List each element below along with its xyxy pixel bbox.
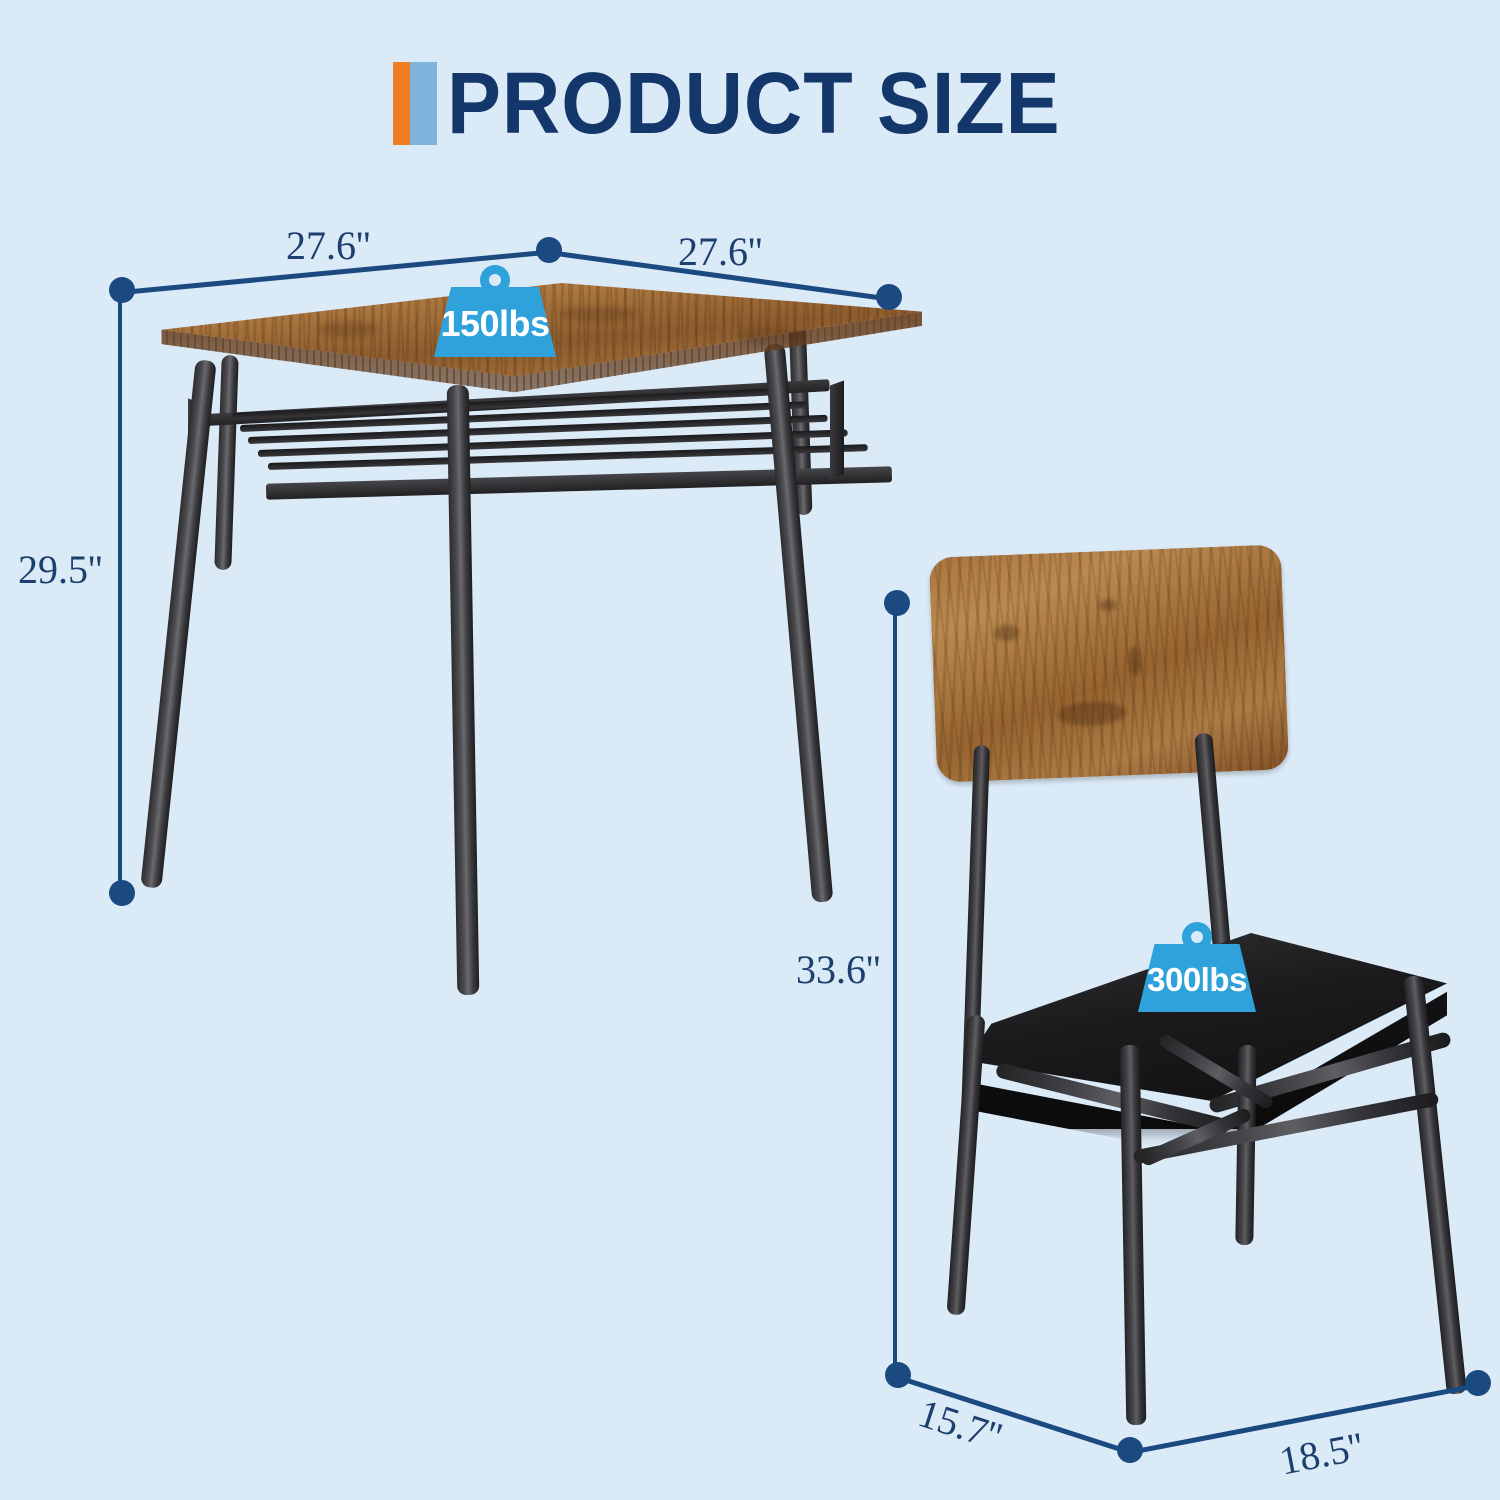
wood-knot-mark <box>1128 646 1141 676</box>
weight-badge-body: 300lbs <box>1138 944 1256 1012</box>
chair-weight-label: 300lbs <box>1147 961 1247 999</box>
infographic-canvas: PRODUCT SIZE <box>0 0 1500 1500</box>
weight-badge-body: 150lbs <box>434 287 556 357</box>
table-dimension-endpoint <box>109 277 135 303</box>
table-dimension-endpoint <box>536 237 562 263</box>
chair-dimension-endpoint <box>1117 1437 1143 1463</box>
chair-dimension-endpoint <box>1465 1370 1491 1396</box>
title-accent-blue-bar <box>410 62 437 145</box>
page-title-text: PRODUCT SIZE <box>447 62 1061 145</box>
chair-leg-back-right <box>1235 1045 1256 1245</box>
chair-weight-capacity-badge: 300lbs <box>1138 922 1256 1012</box>
wood-grain-mark <box>738 327 808 345</box>
chair-dimension-endpoint <box>885 1362 911 1388</box>
table-height-dimension-line <box>118 292 122 895</box>
table-dimension-endpoint <box>109 880 135 906</box>
table-depth-label: 27.6'' <box>286 222 370 269</box>
wood-knot-mark <box>993 624 1020 641</box>
wood-grain-mark <box>318 321 378 337</box>
title-accent-orange-bar <box>393 62 410 145</box>
table-weight-label: 150lbs <box>440 303 549 345</box>
table-width-label: 27.6'' <box>678 228 762 275</box>
chair-height-label: 33.6'' <box>796 946 880 993</box>
chair-width-label: 18.5'' <box>1276 1422 1368 1484</box>
page-title: PRODUCT SIZE <box>0 62 1500 145</box>
chair-dimension-endpoint <box>884 590 910 616</box>
wood-knot-mark <box>1099 599 1117 612</box>
table-dimension-endpoint <box>876 284 902 310</box>
chair-leg-back-left <box>947 1015 986 1316</box>
table-height-label: 29.5'' <box>18 546 102 593</box>
table-weight-capacity-badge: 150lbs <box>434 265 556 357</box>
table-leg-front-left <box>140 359 216 888</box>
dining-table-illustration <box>120 255 940 1015</box>
chair-height-dimension-line <box>893 605 897 1377</box>
wood-knot-mark <box>1056 700 1127 727</box>
wood-grain-mark <box>558 307 638 321</box>
